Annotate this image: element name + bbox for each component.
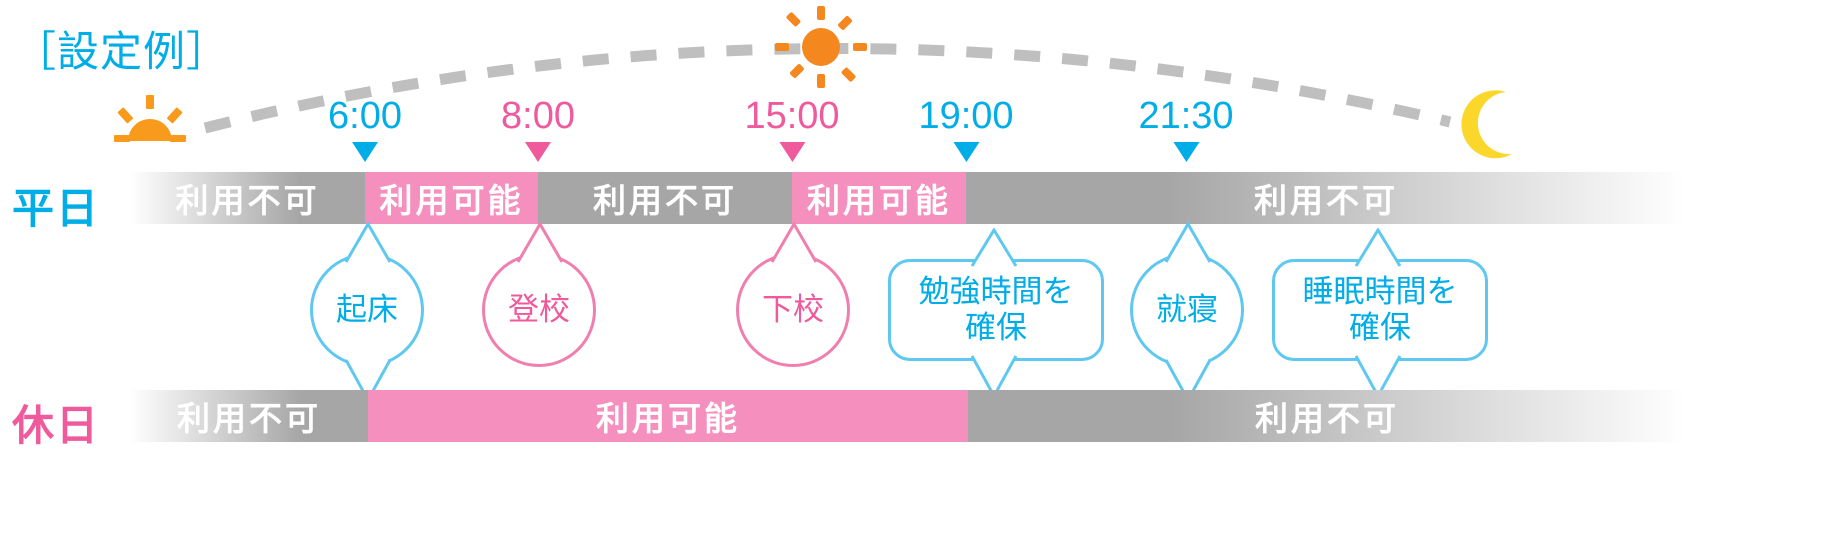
bar-segment: 利用可能 (365, 172, 538, 224)
bubble-label: 睡眠時間を 確保 (1303, 274, 1458, 346)
timeline-diagram: ［設定例］ 6:00 (0, 0, 1822, 550)
segment-label: 利用不可 (176, 174, 320, 222)
segment-label: 利用不可 (177, 392, 321, 440)
bar-segment: 利用不可 (130, 172, 365, 224)
segment-label: 利用可能 (380, 174, 524, 222)
weekday-availability-bar: 利用不可 利用可能 利用不可 利用可能 利用不可 (130, 172, 1686, 224)
bar-segment: 利用不可 (538, 172, 792, 224)
segment-label: 利用不可 (593, 174, 737, 222)
tick-marker-down-icon (525, 142, 551, 162)
segment-label: 利用不可 (1254, 174, 1398, 222)
bubble-study-time[interactable]: 勉強時間を 確保 (888, 259, 1104, 361)
sun-path-arc (0, 0, 1822, 200)
tick-marker-down-icon (779, 142, 805, 162)
tick-label: 15:00 (744, 96, 839, 136)
bar-segment: 利用不可 (130, 390, 368, 442)
tick-marker-down-icon (352, 142, 378, 162)
tick-15-00: 15:00 (744, 96, 839, 162)
tick-6-00: 6:00 (328, 96, 402, 162)
bubble-sleep-time[interactable]: 睡眠時間を 確保 (1272, 259, 1488, 361)
tick-label: 8:00 (501, 96, 575, 136)
bar-segment: 利用不可 (968, 390, 1686, 442)
tick-label: 21:30 (1138, 96, 1233, 136)
segment-label: 利用不可 (1255, 392, 1399, 440)
bubble-label: 勉強時間を 確保 (919, 274, 1074, 346)
tick-8-00: 8:00 (501, 96, 575, 162)
moon-icon (1450, 88, 1524, 160)
segment-label: 利用可能 (596, 392, 740, 440)
row-label-holiday: 休日 (12, 392, 100, 453)
tick-marker-down-icon (953, 142, 979, 162)
bubble-label: 起床 (336, 292, 398, 328)
sun-icon (775, 6, 867, 88)
bubble-label: 登校 (508, 292, 570, 328)
bar-segment: 利用可能 (368, 390, 968, 442)
bubble-wakeup[interactable]: 起床 (310, 253, 424, 367)
bar-segment: 利用可能 (792, 172, 966, 224)
bubble-label: 下校 (762, 292, 824, 328)
bubble-leave-school[interactable]: 下校 (736, 253, 850, 367)
bubble-bedtime[interactable]: 就寝 (1130, 253, 1244, 367)
bar-segment: 利用不可 (966, 172, 1686, 224)
segment-label: 利用可能 (807, 174, 951, 222)
tick-label: 19:00 (918, 96, 1013, 136)
bubble-go-to-school[interactable]: 登校 (482, 253, 596, 367)
tick-marker-down-icon (1173, 142, 1199, 162)
row-label-weekday: 平日 (12, 175, 100, 236)
tick-19-00: 19:00 (918, 96, 1013, 162)
bubble-label: 就寝 (1156, 292, 1218, 328)
tick-label: 6:00 (328, 96, 402, 136)
sunrise-icon (110, 95, 190, 147)
holiday-availability-bar: 利用不可 利用可能 利用不可 (130, 390, 1686, 442)
tick-21-30: 21:30 (1138, 96, 1233, 162)
